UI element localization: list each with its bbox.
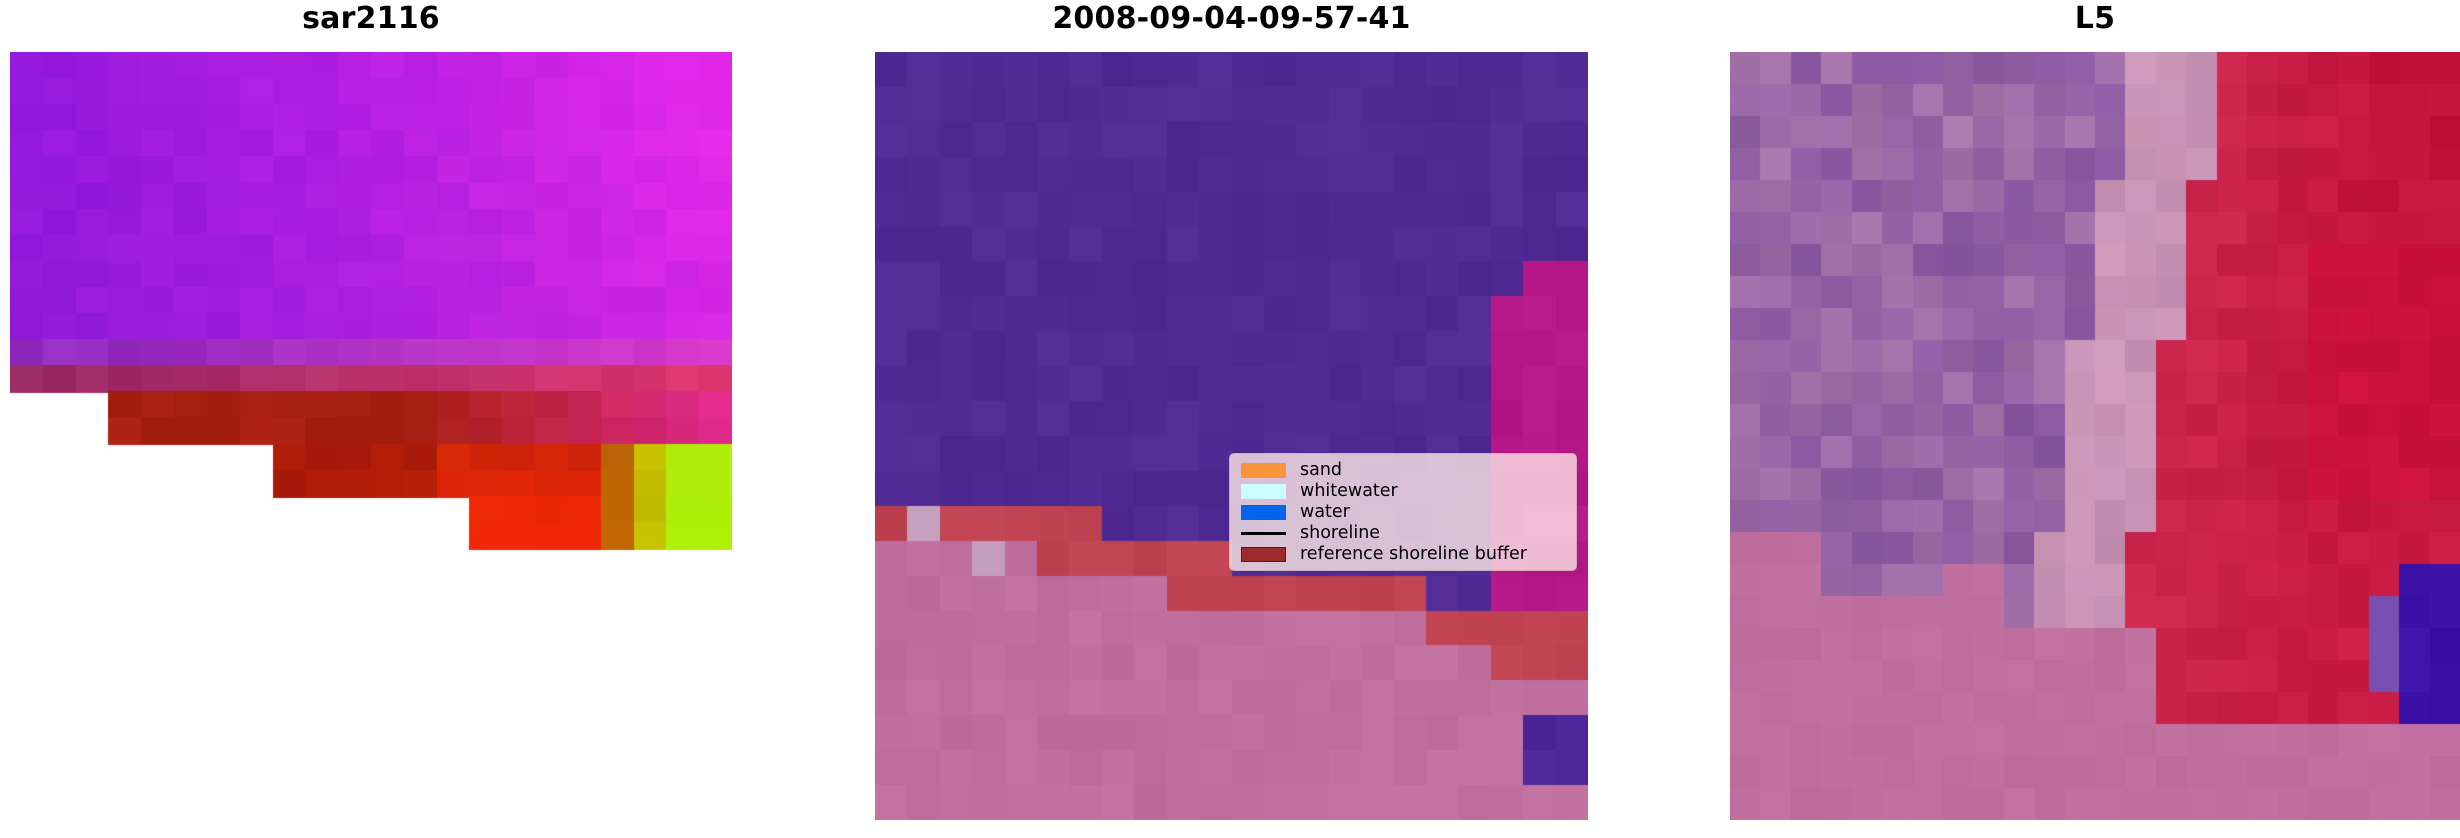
panel-canvas-sar2116 bbox=[10, 52, 732, 574]
legend: sand whitewater water shoreline bbox=[1229, 453, 1577, 571]
legend-label-whitewater: whitewater bbox=[1300, 482, 1398, 501]
legend-item-shoreline: shoreline bbox=[1241, 524, 1563, 543]
whitewater-swatch-icon bbox=[1241, 482, 1286, 501]
legend-label-reference-shoreline-buffer: reference shoreline buffer bbox=[1300, 545, 1527, 564]
panel-title-sar2116: sar2116 bbox=[10, 4, 732, 34]
legend-item-water: water bbox=[1241, 503, 1563, 522]
panel-sar2116: sar2116 bbox=[10, 0, 732, 838]
legend-label-water: water bbox=[1300, 503, 1350, 522]
panel-l5: L5 bbox=[1730, 0, 2460, 838]
panel-canvas-classification-map bbox=[875, 52, 1588, 820]
figure-root: sar2116 2008-09-04-09-57-41 sand whitewa… bbox=[0, 0, 2460, 838]
legend-item-sand: sand bbox=[1241, 461, 1563, 480]
reference-shoreline-buffer-swatch-icon bbox=[1241, 545, 1286, 564]
sand-swatch-icon bbox=[1241, 461, 1286, 480]
water-swatch-icon bbox=[1241, 503, 1286, 522]
panel-canvas-l5 bbox=[1730, 52, 2460, 820]
shoreline-line-icon bbox=[1241, 524, 1286, 543]
panel-title-l5: L5 bbox=[1730, 4, 2460, 34]
legend-item-whitewater: whitewater bbox=[1241, 482, 1563, 501]
panel-title-classification-map: 2008-09-04-09-57-41 bbox=[875, 4, 1588, 34]
legend-label-shoreline: shoreline bbox=[1300, 524, 1380, 543]
legend-item-reference-shoreline-buffer: reference shoreline buffer bbox=[1241, 545, 1563, 564]
panel-classification-map: 2008-09-04-09-57-41 sand whitewater bbox=[875, 0, 1588, 838]
legend-label-sand: sand bbox=[1300, 461, 1342, 480]
